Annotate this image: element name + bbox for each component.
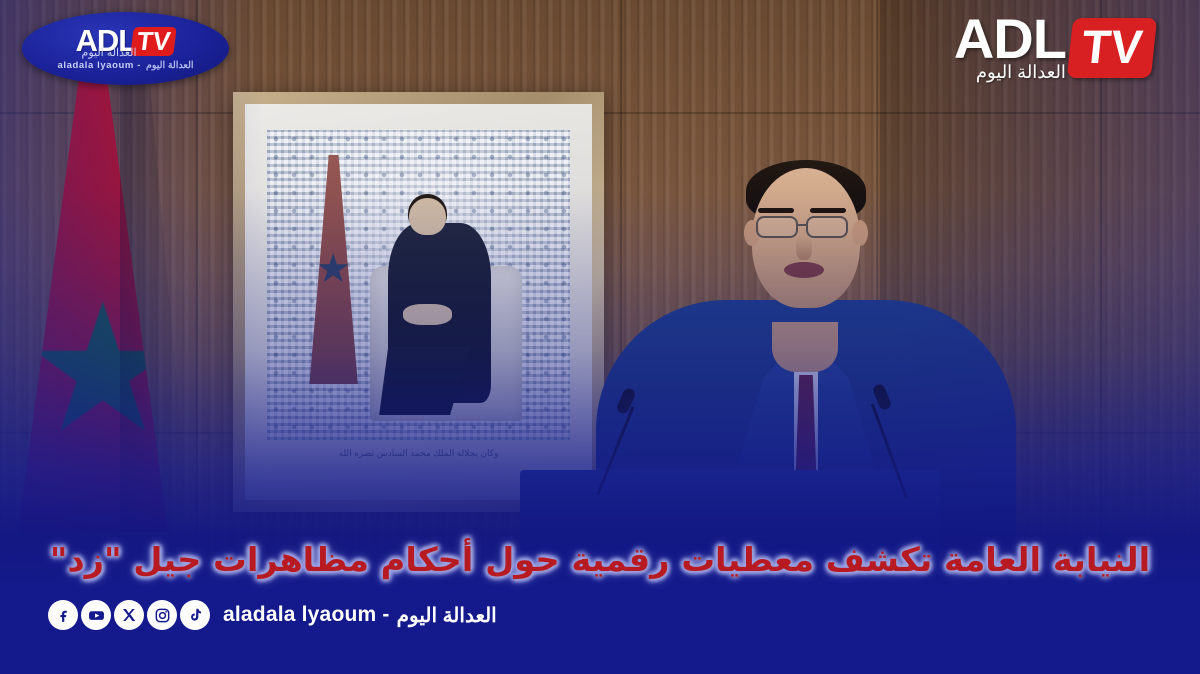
logo-tv-badge: TV: [130, 27, 177, 56]
corner-logo-adl-text: ADL: [954, 14, 1066, 64]
footer-bar: aladala lyaoum - العدالة اليوم: [48, 600, 497, 630]
logo-wordmark: ADL TV العدالة اليوم: [76, 26, 176, 56]
facebook-icon[interactable]: [48, 600, 78, 630]
news-headline: النيابة العامة تكشف معطيات رقمية حول أحك…: [0, 524, 1200, 594]
logo-arabic-overlay: العدالة اليوم: [82, 46, 137, 59]
youtube-icon[interactable]: [81, 600, 111, 630]
news-graphic-stage: ★ ★ وكان بجلالة الملك محمد السادس نصره ا…: [0, 0, 1200, 674]
channel-logo-corner[interactable]: ADL العدالة اليوم TV: [954, 14, 1154, 83]
tiktok-icon[interactable]: [180, 600, 210, 630]
logo-tagline-en: aladala lyaoum -: [57, 60, 141, 71]
corner-logo-wordmark: ADL العدالة اليوم: [954, 14, 1066, 83]
channel-logo-oval[interactable]: ADL TV العدالة اليوم aladala lyaoum - ال…: [22, 12, 229, 85]
x-twitter-icon[interactable]: [114, 600, 144, 630]
channel-handle: aladala lyaoum - العدالة اليوم: [223, 603, 497, 628]
channel-handle-ar: العدالة اليوم: [397, 603, 497, 628]
logo-tagline-ar: العدالة اليوم: [146, 60, 194, 71]
channel-handle-en: aladala lyaoum -: [223, 603, 390, 627]
instagram-icon[interactable]: [147, 600, 177, 630]
corner-logo-tv-badge: TV: [1067, 18, 1157, 78]
social-links: [48, 600, 210, 630]
logo-tagline: aladala lyaoum - العدالة اليوم: [57, 60, 193, 71]
